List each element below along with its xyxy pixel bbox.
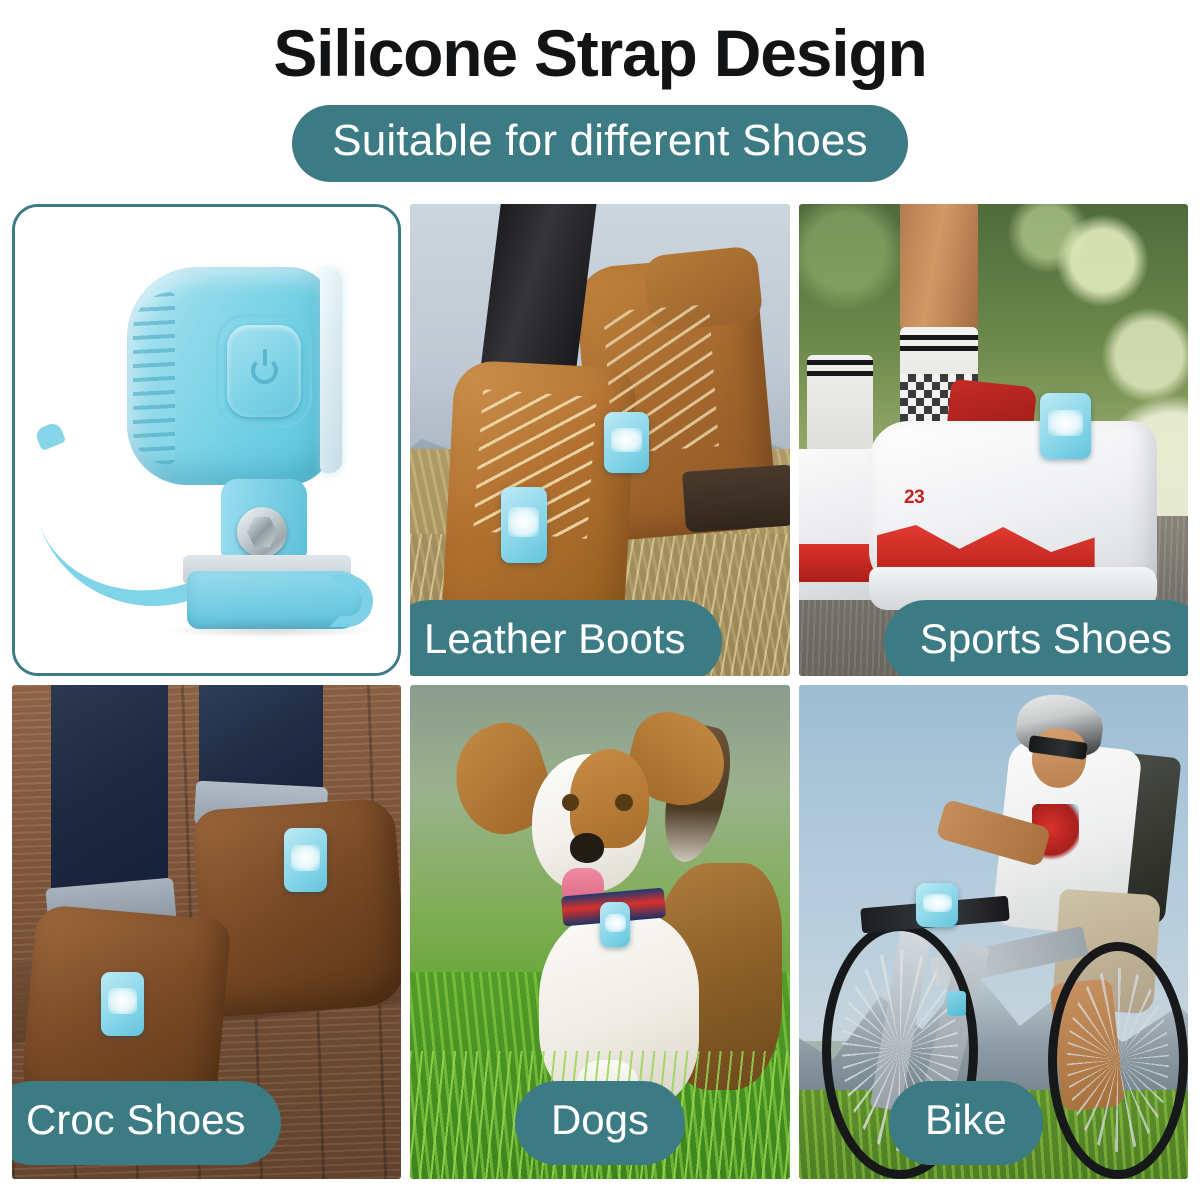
- housing-ribs: [133, 292, 175, 466]
- tile-label-dogs: Dogs: [515, 1081, 685, 1165]
- product-photo: [15, 207, 398, 673]
- jeans-left: [51, 685, 168, 902]
- led-lens: [320, 269, 342, 473]
- tile-product: [12, 204, 401, 676]
- tile-label-croc-shoes: Croc Shoes: [12, 1081, 281, 1165]
- page-title: Silicone Strap Design: [273, 18, 926, 89]
- dog-eye-right: [615, 794, 632, 812]
- power-icon: [251, 357, 278, 384]
- clip-light-icon: [501, 487, 547, 563]
- infographic-page: Silicone Strap Design Suitable for diffe…: [0, 0, 1200, 1200]
- clip-light-icon: [916, 883, 959, 927]
- feature-grid: Leather Boots 23 Sports Shoes: [12, 204, 1188, 1188]
- tile-bike: Bike: [799, 685, 1188, 1179]
- bike-wheel-rear: [1048, 942, 1188, 1179]
- bare-leg: [900, 204, 978, 346]
- header: Silicone Strap Design Suitable for diffe…: [0, 0, 1200, 196]
- product-shadow: [165, 622, 375, 638]
- tile-label-bike: Bike: [889, 1081, 1043, 1165]
- clip-light-icon: [101, 972, 144, 1036]
- clip-light-icon: [284, 828, 327, 892]
- clip-light-icon: [604, 412, 650, 473]
- clip-light-icon: [1040, 393, 1091, 459]
- sneaker-number-label: 23: [904, 487, 924, 509]
- tile-label-sports-shoes: Sports Shoes: [884, 600, 1188, 676]
- dog-nose: [570, 833, 604, 863]
- tile-leather-boots: Leather Boots: [410, 204, 790, 676]
- tile-croc-shoes: Croc Shoes: [12, 685, 401, 1179]
- clip-light-icon: [600, 902, 630, 946]
- clip-hook: [329, 575, 373, 627]
- tile-sports-shoes: 23 Sports Shoes: [799, 204, 1188, 676]
- tile-label-leather-boots: Leather Boots: [410, 600, 722, 676]
- boot-sole: [682, 464, 790, 533]
- clip-light-mount-icon: [947, 991, 966, 1016]
- tile-dogs: Dogs: [410, 685, 790, 1179]
- subtitle-badge: Suitable for different Shoes: [292, 105, 908, 182]
